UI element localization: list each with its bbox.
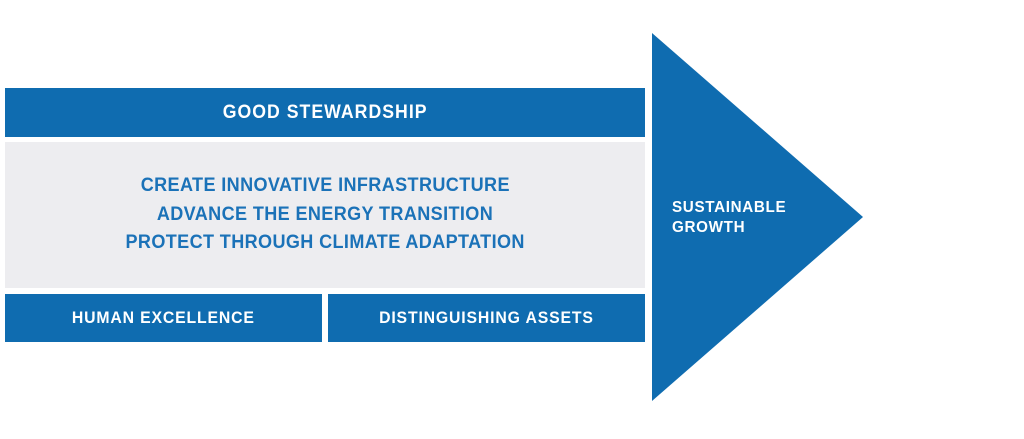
pillar-line-3: PROTECT THROUGH CLIMATE ADAPTATION bbox=[125, 229, 524, 258]
diagram-canvas: GOOD STEWARDSHIP CREATE INNOVATIVE INFRA… bbox=[0, 0, 1024, 439]
good-stewardship-bar: GOOD STEWARDSHIP bbox=[5, 88, 645, 137]
strategic-pillars-panel: CREATE INNOVATIVE INFRASTRUCTURE ADVANCE… bbox=[5, 142, 645, 288]
sustainable-growth-line-1: SUSTAINABLE bbox=[672, 198, 796, 218]
sustainable-growth-arrow: SUSTAINABLE GROWTH bbox=[650, 30, 865, 404]
pillar-line-1: CREATE INNOVATIVE INFRASTRUCTURE bbox=[140, 172, 509, 201]
sustainable-growth-label: SUSTAINABLE GROWTH bbox=[672, 198, 796, 238]
good-stewardship-label: GOOD STEWARDSHIP bbox=[223, 102, 428, 124]
human-excellence-bar: HUMAN EXCELLENCE bbox=[5, 294, 322, 342]
human-excellence-label: HUMAN EXCELLENCE bbox=[72, 308, 255, 328]
distinguishing-assets-bar: DISTINGUISHING ASSETS bbox=[328, 294, 645, 342]
pillar-line-2: ADVANCE THE ENERGY TRANSITION bbox=[157, 201, 493, 230]
distinguishing-assets-label: DISTINGUISHING ASSETS bbox=[379, 308, 594, 328]
strategy-block-group: GOOD STEWARDSHIP CREATE INNOVATIVE INFRA… bbox=[5, 88, 645, 342]
sustainable-growth-line-2: GROWTH bbox=[672, 218, 796, 238]
